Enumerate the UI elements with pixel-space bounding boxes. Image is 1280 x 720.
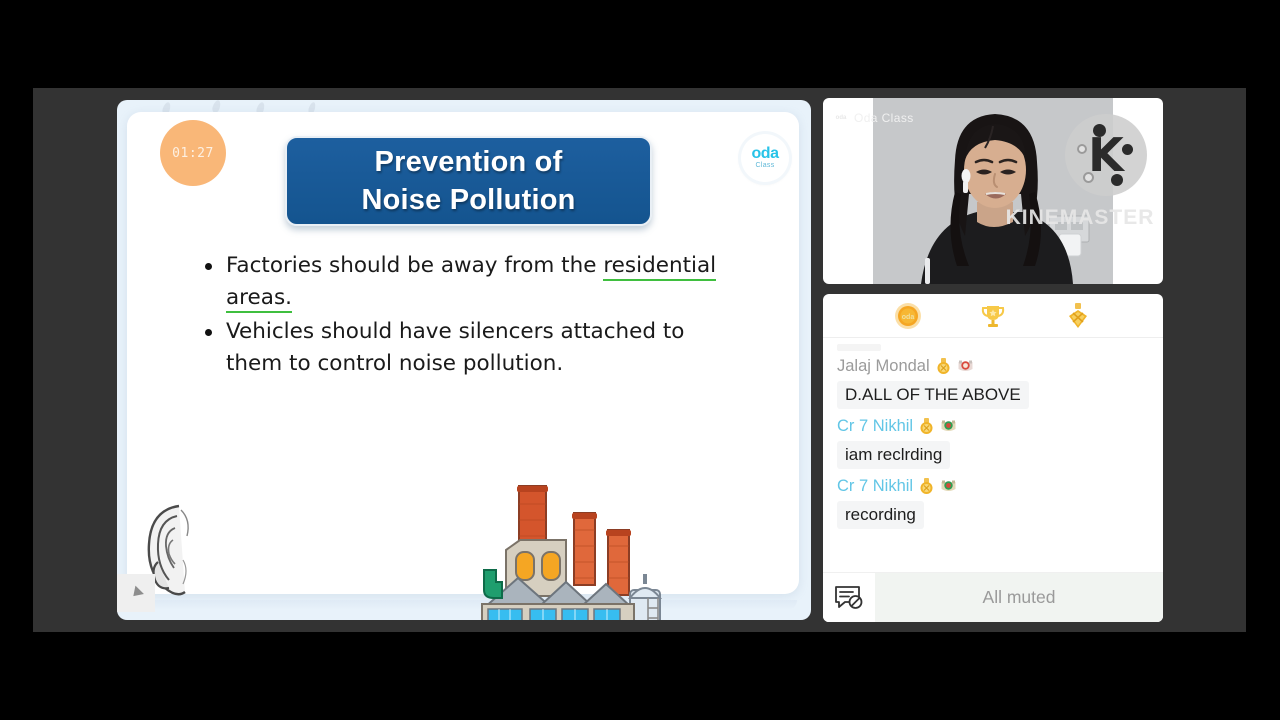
slide-title-line-2: Noise Pollution [361,181,575,219]
chat-message-text: recording [837,501,924,529]
medal-icon[interactable] [1063,301,1093,331]
green-rank-badge-icon [940,418,957,435]
trophy-icon[interactable] [978,301,1008,331]
bullet-text: Factories should be away from the reside… [226,250,716,314]
chat-header: oda [823,294,1163,338]
all-muted-status-bar[interactable]: All muted [875,573,1163,622]
chat-message-list[interactable]: Jalaj Mondal [823,338,1163,572]
chat-author-row: Jalaj Mondal [837,354,1149,378]
comment-off-button[interactable] [823,573,875,622]
chat-message-text: D.ALL OF THE ABOVE [837,381,1029,409]
oda-badge-icon: oda [833,110,849,126]
video-watermark-label: Oda Class [854,111,914,125]
timer-text: 01:27 [172,146,214,161]
boy-covering-ears-illustration [807,580,811,620]
gold-medal-badge-icon [935,358,952,375]
prev-slide-button[interactable] [117,574,155,612]
right-column: oda Oda Class K KINEMASTER [823,98,1163,622]
slide-title-line-1: Prevention of [375,143,563,181]
chat-footer: All muted [823,572,1163,622]
bullet-2-line-1: Vehicles should have silencers attached … [226,319,684,344]
bullet-dot-icon [205,263,212,270]
chat-panel[interactable]: oda [823,294,1163,622]
kinemaster-hole-icon [1122,144,1133,155]
chat-message: Cr 7 Nikhil [837,414,1149,469]
bullet-1-underlined: residential [603,253,716,281]
video-oda-watermark: oda Oda Class [833,110,914,126]
slide-timer: 01:27 [160,120,226,186]
gold-medal-badge-icon [918,418,935,435]
gold-medal-badge-icon [918,478,935,495]
bullet-item: Vehicles should have silencers attached … [205,316,765,380]
chat-author-row: Cr 7 Nikhil [837,414,1149,438]
green-rank-badge-icon [940,478,957,495]
bullet-2-line-2: them to control noise pollution. [226,351,563,376]
chat-message-text: iam reclrding [837,441,950,469]
svg-text:oda: oda [901,314,914,321]
chat-author-name: Cr 7 Nikhil [837,417,913,436]
app-stage: 01:27 Prevention of Noise Pollution oda … [33,88,1246,632]
all-muted-label: All muted [983,587,1056,608]
bullet-1-normal: Factories should be away from the [226,253,603,278]
bullet-dot-icon [205,329,212,336]
chat-author-name: Jalaj Mondal [837,357,930,376]
teacher-video-tile[interactable]: oda Oda Class K KINEMASTER [823,98,1163,284]
chat-message: Jalaj Mondal [837,354,1149,409]
chat-scroll-partial [837,344,1149,351]
chat-author-name: Cr 7 Nikhil [837,477,913,496]
bullet-item: Factories should be away from the reside… [205,250,765,314]
oda-class-logo: oda Class [741,134,789,182]
factory-illustration [462,478,687,620]
red-rank-badge-icon [957,358,974,375]
chat-message: Cr 7 Nikhil [837,474,1149,529]
chat-author-row: Cr 7 Nikhil [837,474,1149,498]
slide-title-banner: Prevention of Noise Pollution [285,136,652,226]
bullet-text: Vehicles should have silencers attached … [226,316,684,380]
oda-logo-word: oda [752,147,779,161]
oda-coin-icon[interactable]: oda [893,301,923,331]
comment-off-icon [834,585,864,611]
prev-triangle-icon [129,586,144,601]
oda-logo-sub: Class [755,161,774,170]
bullet-1-underlined-2: areas. [226,285,292,313]
slide-panel[interactable]: 01:27 Prevention of Noise Pollution oda … [117,100,811,620]
slide-bullet-list: Factories should be away from the reside… [205,250,765,382]
